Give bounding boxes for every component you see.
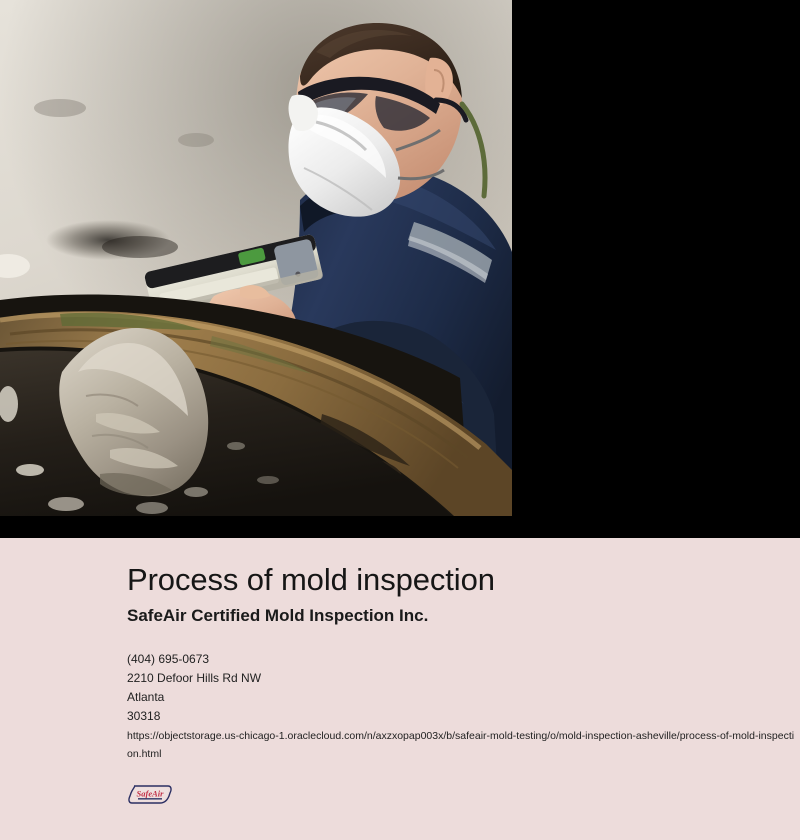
logo-wrap: SafeAir (127, 763, 793, 806)
contact-postal-code: 30318 (127, 707, 793, 726)
page-root: Process of mold inspection SafeAir Certi… (0, 0, 800, 840)
content-inner: Process of mold inspection SafeAir Certi… (127, 538, 793, 806)
hero-band (0, 0, 800, 538)
safeair-logo[interactable]: SafeAir (127, 783, 173, 806)
hero-photo (0, 0, 512, 516)
contact-phone[interactable]: (404) 695-0673 (127, 650, 793, 669)
svg-text:SafeAir: SafeAir (137, 789, 165, 799)
contact-street: 2210 Defoor Hills Rd NW (127, 669, 793, 688)
contact-city: Atlanta (127, 688, 793, 707)
company-name: SafeAir Certified Mold Inspection Inc. (127, 598, 793, 627)
source-url[interactable]: https://objectstorage.us-chicago-1.oracl… (127, 726, 795, 763)
content-panel: Process of mold inspection SafeAir Certi… (0, 538, 800, 840)
contact-block: (404) 695-0673 2210 Defoor Hills Rd NW A… (127, 627, 793, 726)
page-title: Process of mold inspection (127, 538, 793, 598)
